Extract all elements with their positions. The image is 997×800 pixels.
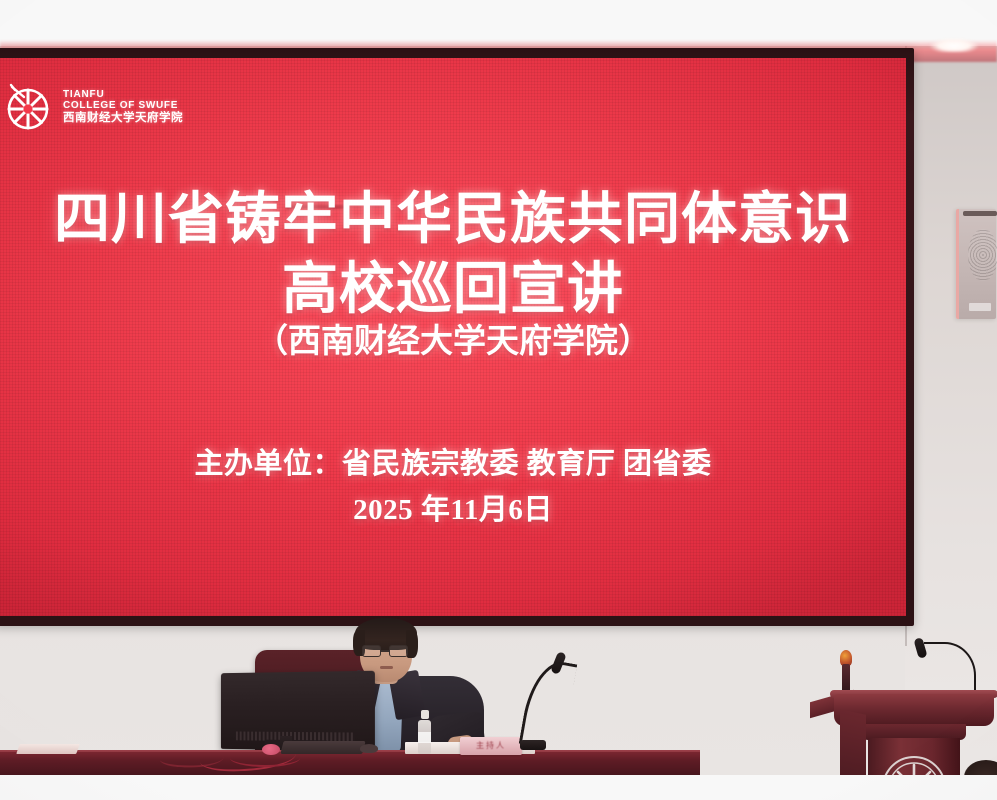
college-logo-text: TIANFU COLLEGE OF SWUFE 西南财经大学天府学院 bbox=[63, 89, 183, 125]
bottle-label bbox=[418, 732, 431, 743]
led-screen bbox=[0, 58, 906, 616]
desk-microphone-base bbox=[520, 740, 546, 750]
desk-paper-left bbox=[16, 744, 80, 754]
bottle-cap bbox=[421, 710, 429, 719]
desk-small-object bbox=[262, 744, 280, 755]
desktop-monitor bbox=[221, 671, 375, 752]
wall-speaker bbox=[956, 209, 996, 319]
lectern bbox=[828, 648, 997, 778]
conference-photo: TIANFU COLLEGE OF SWUFE 西南财经大学天府学院 四川省铸牢… bbox=[0, 0, 997, 800]
logo-line-chinese: 西南财经大学天府学院 bbox=[63, 112, 183, 125]
logo-line-college: COLLEGE OF SWUFE bbox=[63, 100, 183, 111]
water-bottle bbox=[418, 710, 431, 754]
eyeglass-lens-left bbox=[362, 645, 381, 657]
name-placard-text: 主持人 bbox=[460, 740, 522, 751]
eyeglass-lens-right bbox=[389, 645, 408, 657]
college-emblem-icon bbox=[2, 81, 54, 133]
speaker-mouth bbox=[380, 666, 393, 669]
keyboard bbox=[280, 741, 365, 754]
eyeglasses-icon bbox=[362, 645, 410, 657]
logo-line-tianfu: TIANFU bbox=[63, 89, 183, 100]
speaker-grille-icon bbox=[968, 229, 997, 281]
led-screen-frame: TIANFU COLLEGE OF SWUFE 西南财经大学天府学院 四川省铸牢… bbox=[0, 48, 914, 626]
name-placard: 主持人 bbox=[460, 737, 522, 755]
decorative-dash bbox=[286, 205, 344, 209]
ceiling-downlight bbox=[930, 38, 978, 52]
college-logo: TIANFU COLLEGE OF SWUFE 西南财经大学天府学院 bbox=[2, 81, 183, 133]
speaker-label bbox=[969, 303, 991, 311]
desk-microphone-gooseneck bbox=[519, 657, 578, 751]
led-vignette bbox=[0, 58, 906, 616]
mouse bbox=[360, 744, 378, 753]
speaker-bracket bbox=[963, 211, 997, 216]
image-bottom-strip bbox=[0, 775, 997, 800]
desk-microphone bbox=[520, 652, 580, 752]
